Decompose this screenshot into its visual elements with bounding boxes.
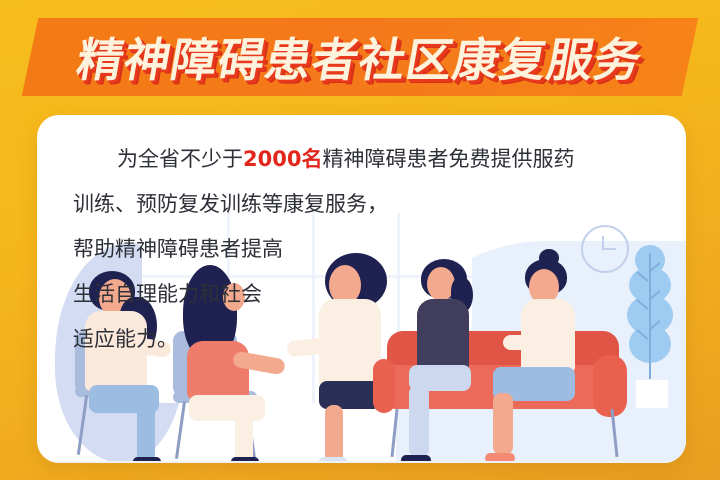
card-paragraph: 为全省不少于2000名精神障碍患者免费提供服药 训练、预防复发训练等康复服务， …	[73, 137, 673, 362]
paragraph-line-1: 为全省不少于2000名精神障碍患者免费提供服药	[73, 137, 673, 182]
content-card: 为全省不少于2000名精神障碍患者免费提供服药 训练、预防复发训练等康复服务， …	[37, 115, 686, 463]
line1-highlight: 2000名	[243, 147, 322, 171]
poster-title: 精神障碍患者社区康复服务	[0, 18, 720, 96]
floor-line	[37, 461, 686, 463]
line1-suffix: 精神障碍患者免费提供服药	[322, 147, 574, 171]
line1-prefix: 为全省不少于	[117, 147, 243, 171]
paragraph-line-3: 帮助精神障碍患者提高	[73, 227, 673, 272]
paragraph-line-2: 训练、预防复发训练等康复服务，	[73, 182, 673, 227]
title-banner: 精神障碍患者社区康复服务	[0, 18, 720, 96]
poster-root: 精神障碍患者社区康复服务	[0, 0, 720, 480]
paragraph-line-5: 适应能力。	[73, 317, 673, 362]
paragraph-line-4: 生活自理能力和社会	[73, 272, 673, 317]
